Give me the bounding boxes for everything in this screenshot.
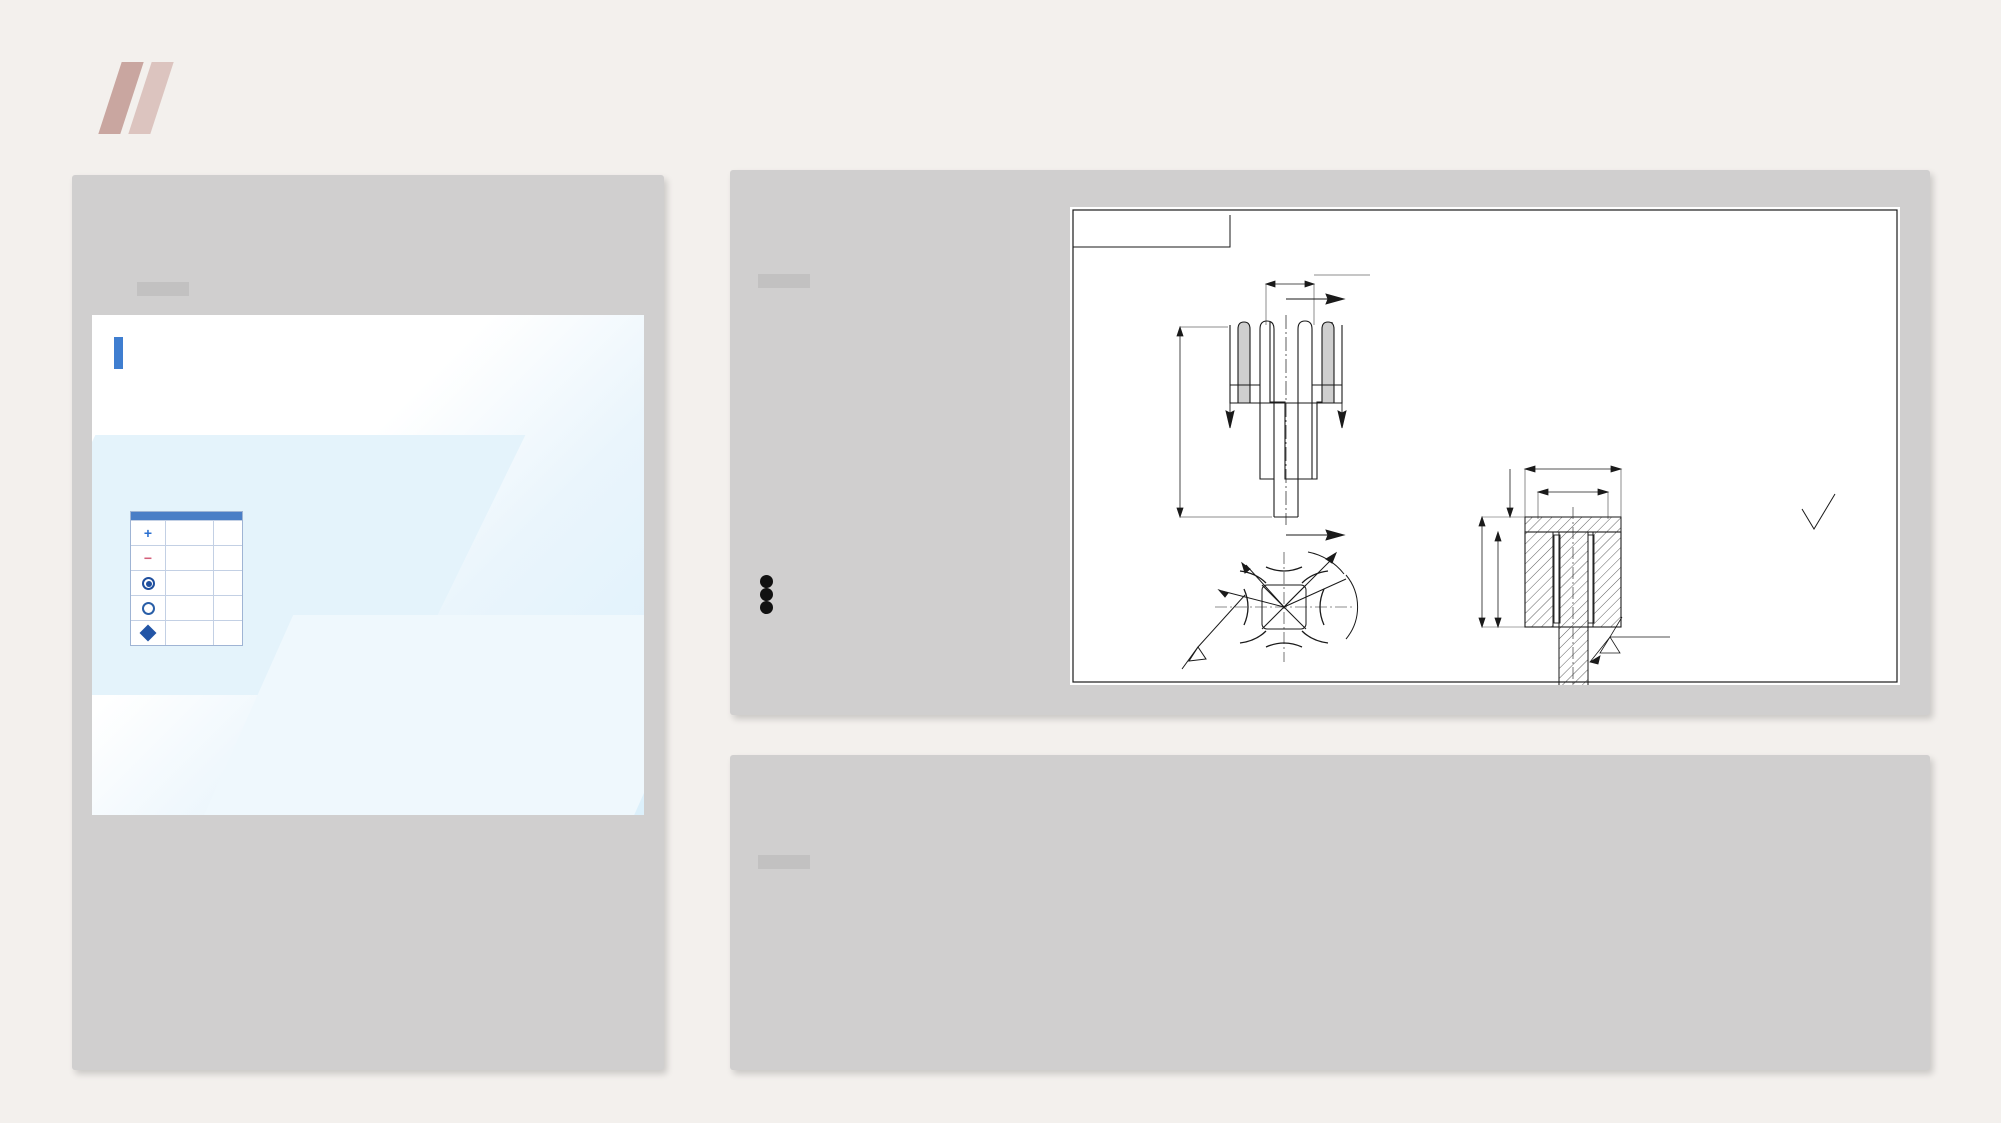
slide-header <box>0 0 2001 165</box>
legend-label <box>166 596 214 620</box>
legend-row <box>131 595 242 620</box>
slide-root: + − <box>0 0 2001 1123</box>
legend-header <box>131 512 242 520</box>
bullet-dot-icon <box>760 601 773 614</box>
bullet-dot-icon <box>760 588 773 601</box>
legend-symbol-mid-icon <box>131 596 166 620</box>
part-title-underline <box>758 274 810 288</box>
legend-value <box>214 521 242 545</box>
bullet-dot-icon <box>760 575 773 588</box>
legend-row <box>131 620 242 645</box>
legend-label <box>166 521 214 545</box>
part-drawing-panel <box>730 170 1930 715</box>
legend-table: + − <box>130 511 243 646</box>
cad-drawing-svg <box>1070 207 1900 685</box>
legend-value <box>214 596 242 620</box>
hoq-heading <box>114 337 133 369</box>
legend-value <box>214 621 242 645</box>
legend-value <box>214 546 242 570</box>
technical-drawing-image <box>1070 207 1900 685</box>
legend-symbol-plus-icon: + <box>131 521 166 545</box>
conclusion-title-underline <box>758 855 810 869</box>
list-item <box>760 588 1060 601</box>
legend-value <box>214 571 242 595</box>
list-item <box>760 575 1060 588</box>
qfd-title-underline <box>137 282 189 296</box>
legend-label <box>166 546 214 570</box>
legend-row <box>131 570 242 595</box>
legend-symbol-weak-icon <box>131 621 166 645</box>
legend-label <box>166 571 214 595</box>
hoq-accent-bar <box>114 337 123 369</box>
legend-label <box>166 621 214 645</box>
part-feature-list <box>760 575 1060 614</box>
legend-symbol-minus-icon: − <box>131 546 166 570</box>
conclusion-panel <box>730 755 1930 1070</box>
house-of-quality-image: + − <box>92 315 644 815</box>
logo-slash-icon <box>110 62 180 134</box>
qfd-panel: + − <box>72 175 664 1070</box>
qfd-conclusion-text <box>132 839 624 956</box>
list-item <box>760 601 1060 614</box>
qfd-matrix <box>292 353 328 415</box>
legend-symbol-strong-icon <box>131 571 166 595</box>
legend-row: − <box>131 545 242 570</box>
legend-row: + <box>131 520 242 545</box>
